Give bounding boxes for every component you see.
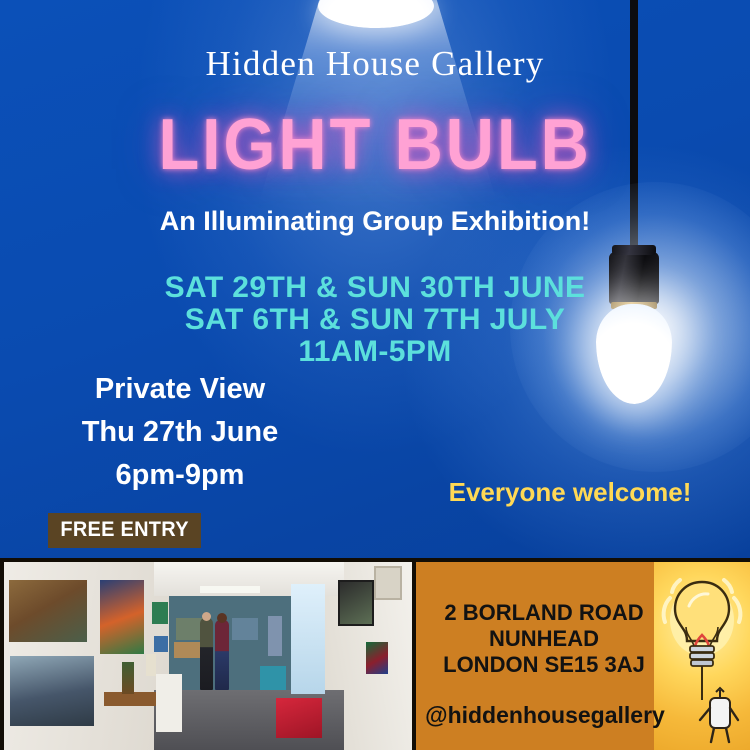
photo-armchair — [260, 666, 286, 690]
photo-artwork — [9, 580, 87, 642]
gallery-interior-photo — [4, 562, 412, 750]
gallery-name: Hidden House Gallery — [0, 44, 750, 84]
private-view-date: Thu 27th June — [40, 411, 320, 454]
exhibition-dates: SAT 29TH & SUN 30TH JUNE SAT 6TH & SUN 7… — [0, 272, 750, 368]
photo-red-table — [276, 698, 322, 738]
photo-artwork — [338, 580, 374, 626]
photo-artwork — [232, 618, 258, 640]
photo-window — [291, 584, 325, 694]
photo-visitor-head — [202, 612, 211, 621]
photo-shelf-unit — [156, 674, 182, 732]
photo-visitor-head — [217, 613, 227, 623]
event-poster: Hidden House Gallery LIGHT BULB An Illum… — [0, 0, 750, 750]
address-line: NUNHEAD — [424, 626, 664, 652]
photo-artwork — [152, 602, 168, 624]
exhibition-hours: 11AM-5PM — [0, 336, 750, 368]
photo-console-table — [104, 692, 160, 706]
photo-artwork — [268, 616, 282, 656]
photo-ceiling-light — [200, 586, 260, 593]
photo-artwork — [100, 580, 144, 654]
photo-vase — [122, 662, 134, 694]
poster-subtitle: An Illuminating Group Exhibition! — [0, 206, 750, 237]
free-entry-badge: FREE ENTRY — [48, 513, 201, 548]
photo-lamp — [146, 654, 156, 676]
poster-headline: LIGHT BULB — [26, 104, 724, 186]
address-line: 2 BORLAND ROAD — [424, 600, 664, 626]
photo-artwork — [374, 566, 402, 600]
photo-visitor — [200, 618, 213, 690]
photo-artwork — [10, 656, 94, 726]
address-panel: 2 BORLAND ROAD NUNHEAD LONDON SE15 3AJ @… — [416, 562, 750, 750]
photo-artwork — [366, 642, 388, 674]
address-line: LONDON SE15 3AJ — [424, 652, 664, 678]
gallery-address: 2 BORLAND ROAD NUNHEAD LONDON SE15 3AJ — [424, 600, 664, 678]
photo-artwork — [154, 636, 168, 652]
poster-stage: Hidden House Gallery LIGHT BULB An Illum… — [0, 0, 750, 560]
exhibition-date-line: SAT 6TH & SUN 7TH JULY — [0, 304, 750, 336]
private-view-time: 6pm-9pm — [40, 454, 320, 497]
social-handle: @hiddenhousegallery — [420, 702, 670, 729]
poster-footer-band: 2 BORLAND ROAD NUNHEAD LONDON SE15 3AJ @… — [0, 558, 750, 750]
photo-visitor — [215, 620, 229, 690]
everyone-welcome-text: Everyone welcome! — [400, 477, 740, 508]
exhibition-date-line: SAT 29TH & SUN 30TH JUNE — [0, 272, 750, 304]
private-view-title: Private View — [40, 368, 320, 411]
private-view-block: Private View Thu 27th June 6pm-9pm — [40, 368, 320, 497]
